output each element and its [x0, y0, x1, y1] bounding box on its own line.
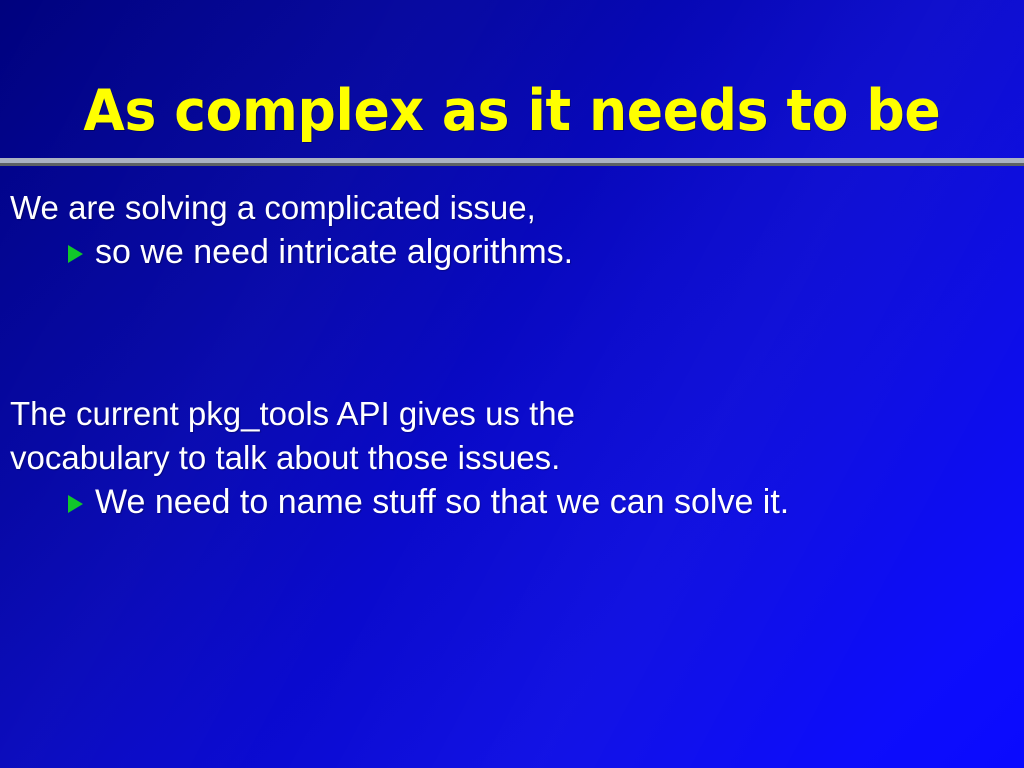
- triangle-bullet-icon: [68, 495, 83, 513]
- content-block-primary: We are solving a complicated issue, so w…: [0, 186, 1024, 275]
- title-separator-rule: [0, 157, 1024, 167]
- content-block-secondary: The current pkg_tools API gives us the v…: [0, 392, 1024, 525]
- slide-title-area: As complex as it needs to be: [0, 70, 1024, 154]
- bullet-item: We need to name stuff so that we can sol…: [0, 480, 1024, 525]
- bullet-label: We need to name stuff so that we can sol…: [95, 480, 789, 525]
- bullet-label: so we need intricate algorithms.: [95, 230, 573, 275]
- body-line: The current pkg_tools API gives us the: [0, 392, 1024, 436]
- presentation-slide: As complex as it needs to be We are solv…: [0, 0, 1024, 768]
- separator-shadow: [0, 163, 1024, 166]
- page-title: As complex as it needs to be: [84, 82, 941, 142]
- body-line: We are solving a complicated issue,: [0, 186, 1024, 230]
- triangle-bullet-icon: [68, 245, 83, 263]
- body-line: vocabulary to talk about those issues.: [0, 436, 1024, 480]
- bullet-item: so we need intricate algorithms.: [0, 230, 1024, 275]
